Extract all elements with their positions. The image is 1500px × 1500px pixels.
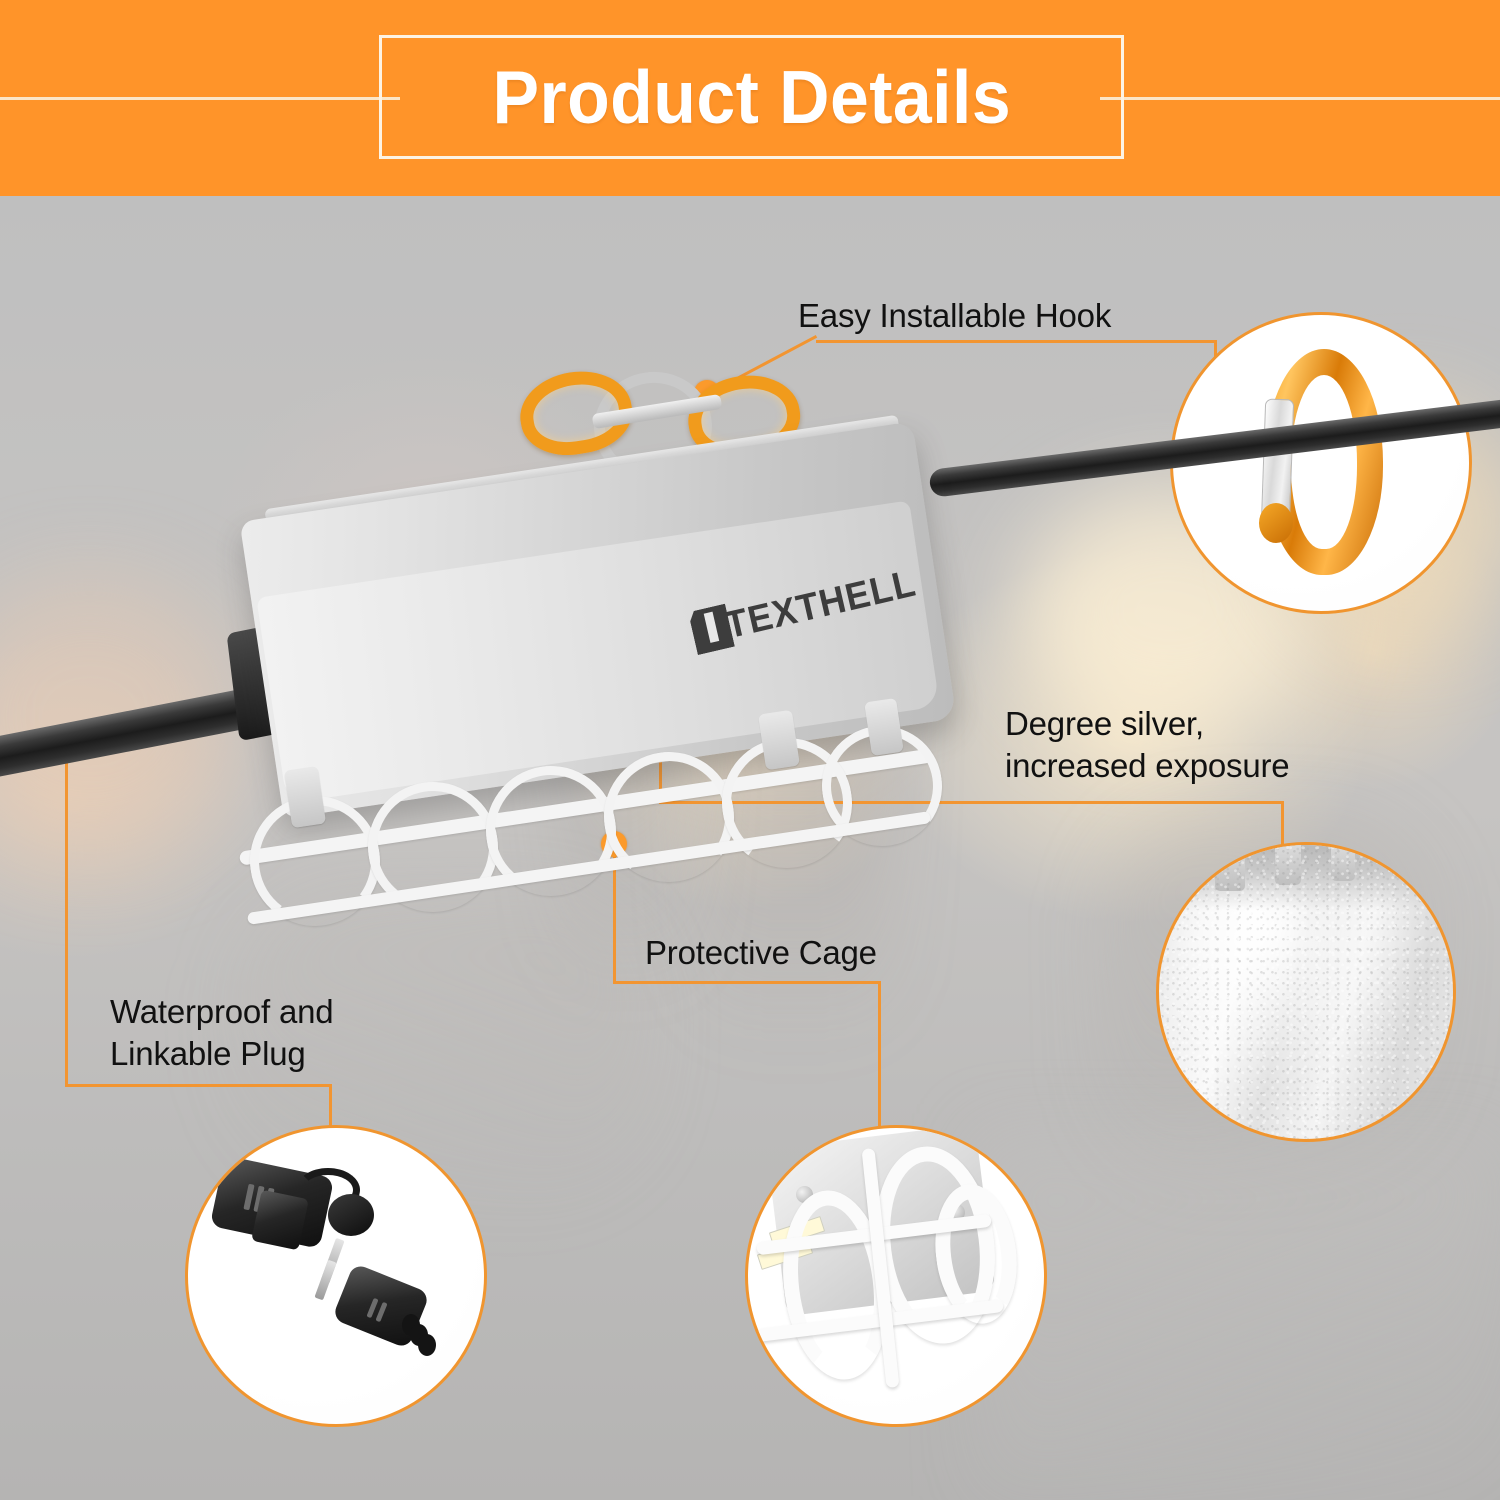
main-product-illustration: TEXTHELL <box>0 0 1500 1500</box>
product-details-infographic: Product Details Easy Installable Hook De… <box>0 0 1500 1500</box>
power-cable-right <box>928 397 1500 498</box>
